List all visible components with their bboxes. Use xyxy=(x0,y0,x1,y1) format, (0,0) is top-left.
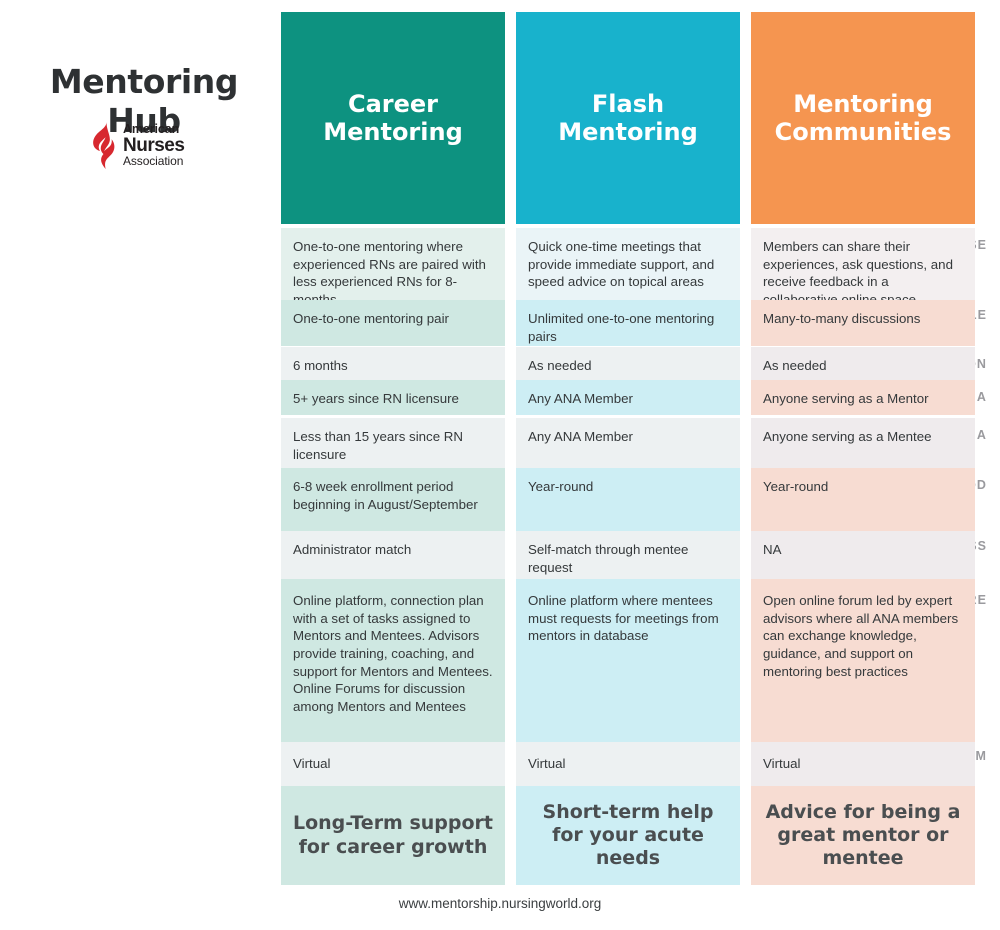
tagline-line-1: Short-term help xyxy=(543,801,714,823)
cell-duration-flash: As needed xyxy=(516,347,740,380)
infographic-sheet: Mentoring Hub American Nurses Associatio… xyxy=(0,0,1000,930)
tagline-line-1: Long-Term support xyxy=(293,812,493,834)
cell-structure-career: Online platform, connection plan with a … xyxy=(281,579,505,742)
cell-enrollment-period-flash: Year-round xyxy=(516,468,740,531)
cell-structure-flash: Online platform where mentees must reque… xyxy=(516,579,740,742)
cell-enrollment-period-career: 6-8 week enrollment period beginning in … xyxy=(281,468,505,531)
cell-matching-process-flash: Self-match through mentee request xyxy=(516,531,740,579)
brand-block: Mentoring Hub American Nurses Associatio… xyxy=(0,0,280,225)
cell-purpose-flash: Quick one-time meetings that provide imm… xyxy=(516,228,740,300)
ana-flame-icon xyxy=(92,122,116,169)
cell-duration-career: 6 months xyxy=(281,347,505,380)
tagline-flash-mentoring: Short-term help for your acute needs xyxy=(516,786,740,885)
cell-matching-process-communities: NA xyxy=(751,531,975,579)
column-header-label: Mentoring Communities xyxy=(761,90,965,147)
cell-mentee-criteria-flash: Any ANA Member xyxy=(516,418,740,468)
cell-enrollment-period-communities: Year-round xyxy=(751,468,975,531)
tagline-line-2: great mentor or mentee xyxy=(777,824,948,869)
cell-platform-flash: Virtual xyxy=(516,742,740,786)
column-header-label: Flash Mentoring xyxy=(526,90,730,147)
cell-purpose-communities: Members can share their experiences, ask… xyxy=(751,228,975,300)
cell-scale-communities: Many-to-many discussions xyxy=(751,300,975,346)
ana-logo: American Nurses Association xyxy=(92,122,184,169)
tagline-line-2: for your acute needs xyxy=(552,824,704,869)
cell-mentor-criteria-communities: Anyone serving as a Mentor xyxy=(751,380,975,415)
ana-logo-line-2: Nurses xyxy=(123,136,184,155)
cell-mentee-criteria-career: Less than 15 years since RN licensure xyxy=(281,418,505,468)
cell-scale-career: One-to-one mentoring pair xyxy=(281,300,505,346)
cell-platform-communities: Virtual xyxy=(751,742,975,786)
tagline-line-1: Advice for being a xyxy=(766,801,961,823)
cell-structure-communities: Open online forum led by expert advisors… xyxy=(751,579,975,742)
cell-purpose-career: One-to-one mentoring where experienced R… xyxy=(281,228,505,300)
cell-mentor-criteria-flash: Any ANA Member xyxy=(516,380,740,415)
tagline-mentoring-communities: Advice for being a great mentor or mente… xyxy=(751,786,975,885)
tagline-line-2: for career growth xyxy=(299,836,488,858)
ana-logo-line-3: Association xyxy=(123,155,184,167)
column-header-label: Career Mentoring xyxy=(291,90,495,147)
tagline-career-mentoring: Long-Term support for career growth xyxy=(281,786,505,885)
column-header-flash-mentoring: Flash Mentoring xyxy=(516,12,740,224)
footer-url[interactable]: www.mentorship.nursingworld.org xyxy=(0,896,1000,911)
cell-platform-career: Virtual xyxy=(281,742,505,786)
cell-scale-flash: Unlimited one-to-one mentoring pairs xyxy=(516,300,740,346)
column-header-career-mentoring: Career Mentoring xyxy=(281,12,505,224)
column-header-mentoring-communities: Mentoring Communities xyxy=(751,12,975,224)
cell-matching-process-career: Administrator match xyxy=(281,531,505,579)
cell-mentee-criteria-communities: Anyone serving as a Mentee xyxy=(751,418,975,468)
ana-logo-wordmark: American Nurses Association xyxy=(123,123,184,167)
cell-duration-communities: As needed xyxy=(751,347,975,380)
cell-mentor-criteria-career: 5+ years since RN licensure xyxy=(281,380,505,415)
